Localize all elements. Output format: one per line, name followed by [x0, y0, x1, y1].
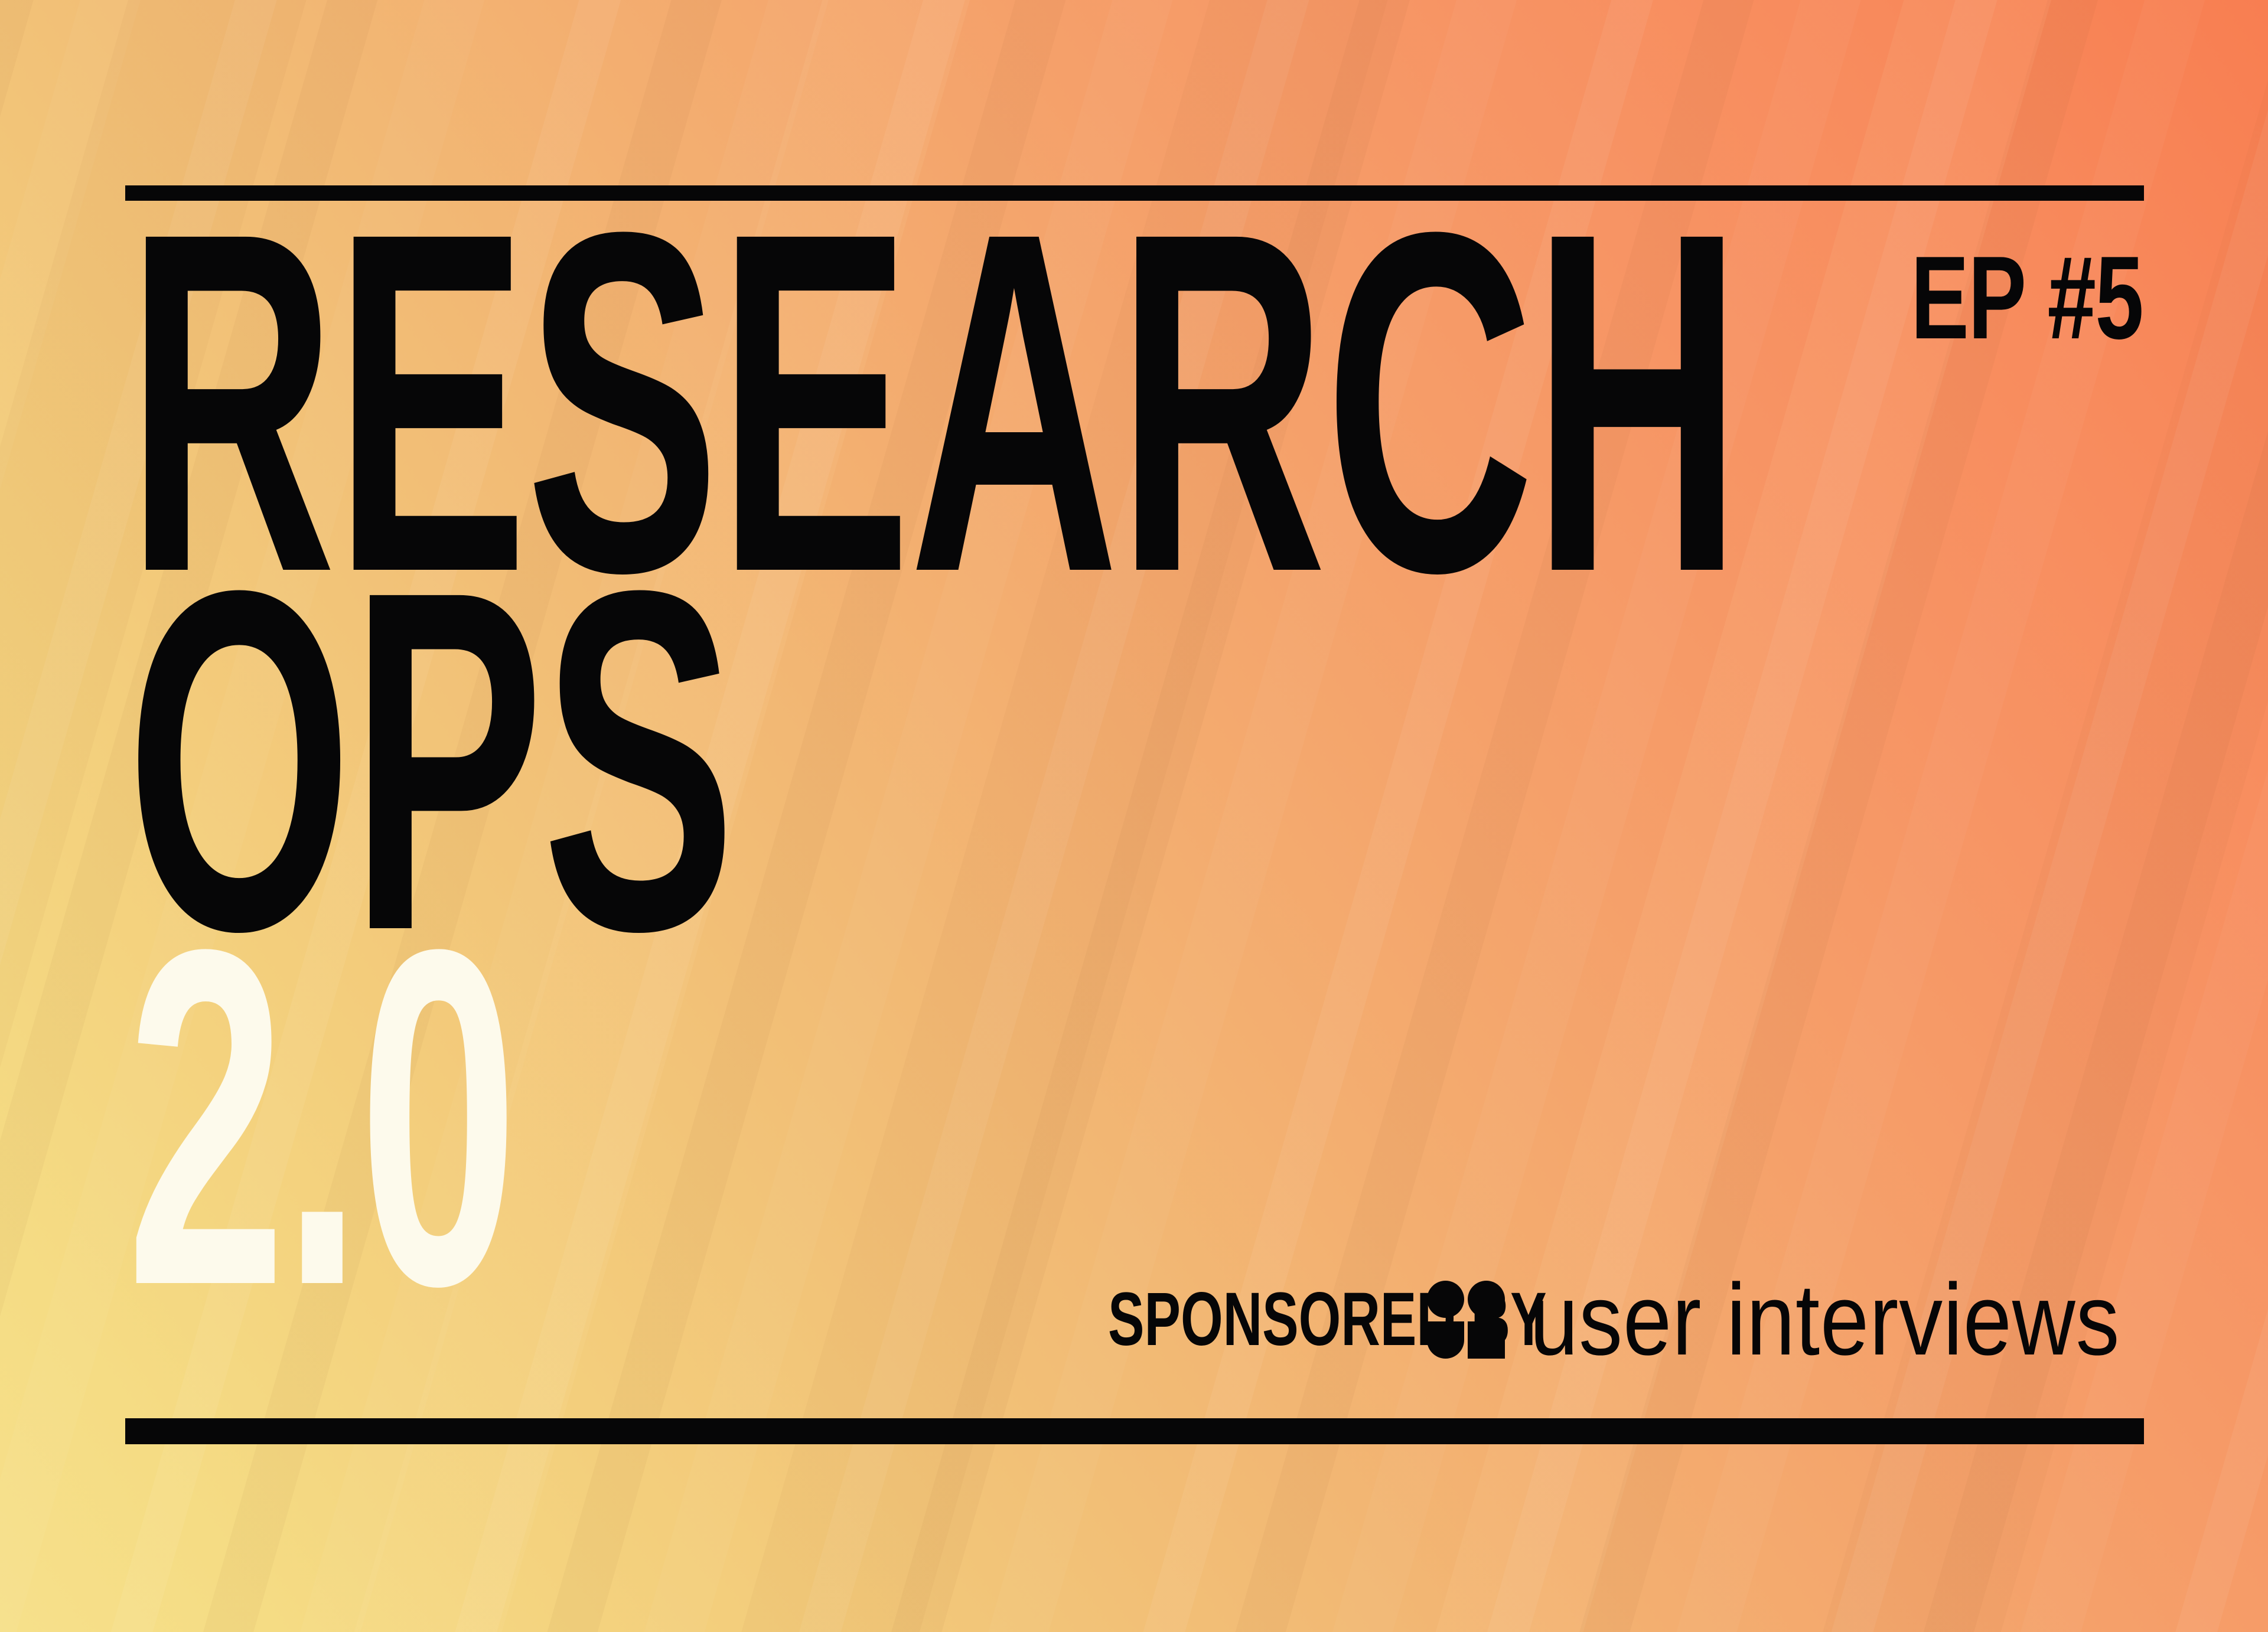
logo-shape-top-left-circle	[1427, 1281, 1464, 1318]
podcast-cover-card: EP #5 RESEARCH OPS 2.0 SPONSORED BY user…	[0, 0, 2268, 1632]
bottom-divider-rule	[125, 1418, 2144, 1444]
logo-shape-top-right-circle	[1468, 1281, 1505, 1318]
user-interviews-logo-icon	[1427, 1281, 1505, 1359]
sponsor-brand-name: user interviews	[1530, 1269, 2120, 1370]
sponsored-by-label: SPONSORED BY	[1108, 1282, 1282, 1357]
title-block: RESEARCH OPS 2.0	[126, 224, 2268, 1294]
logo-shape-bottom-right-square	[1468, 1321, 1505, 1359]
sponsor-brand[interactable]: user interviews	[1427, 1269, 2216, 1370]
logo-shape-bottom-left-rounded	[1427, 1321, 1464, 1359]
sponsor-row: SPONSORED BY user interviews	[1108, 1275, 2216, 1364]
page-title-version: 2.0	[126, 942, 1740, 1293]
